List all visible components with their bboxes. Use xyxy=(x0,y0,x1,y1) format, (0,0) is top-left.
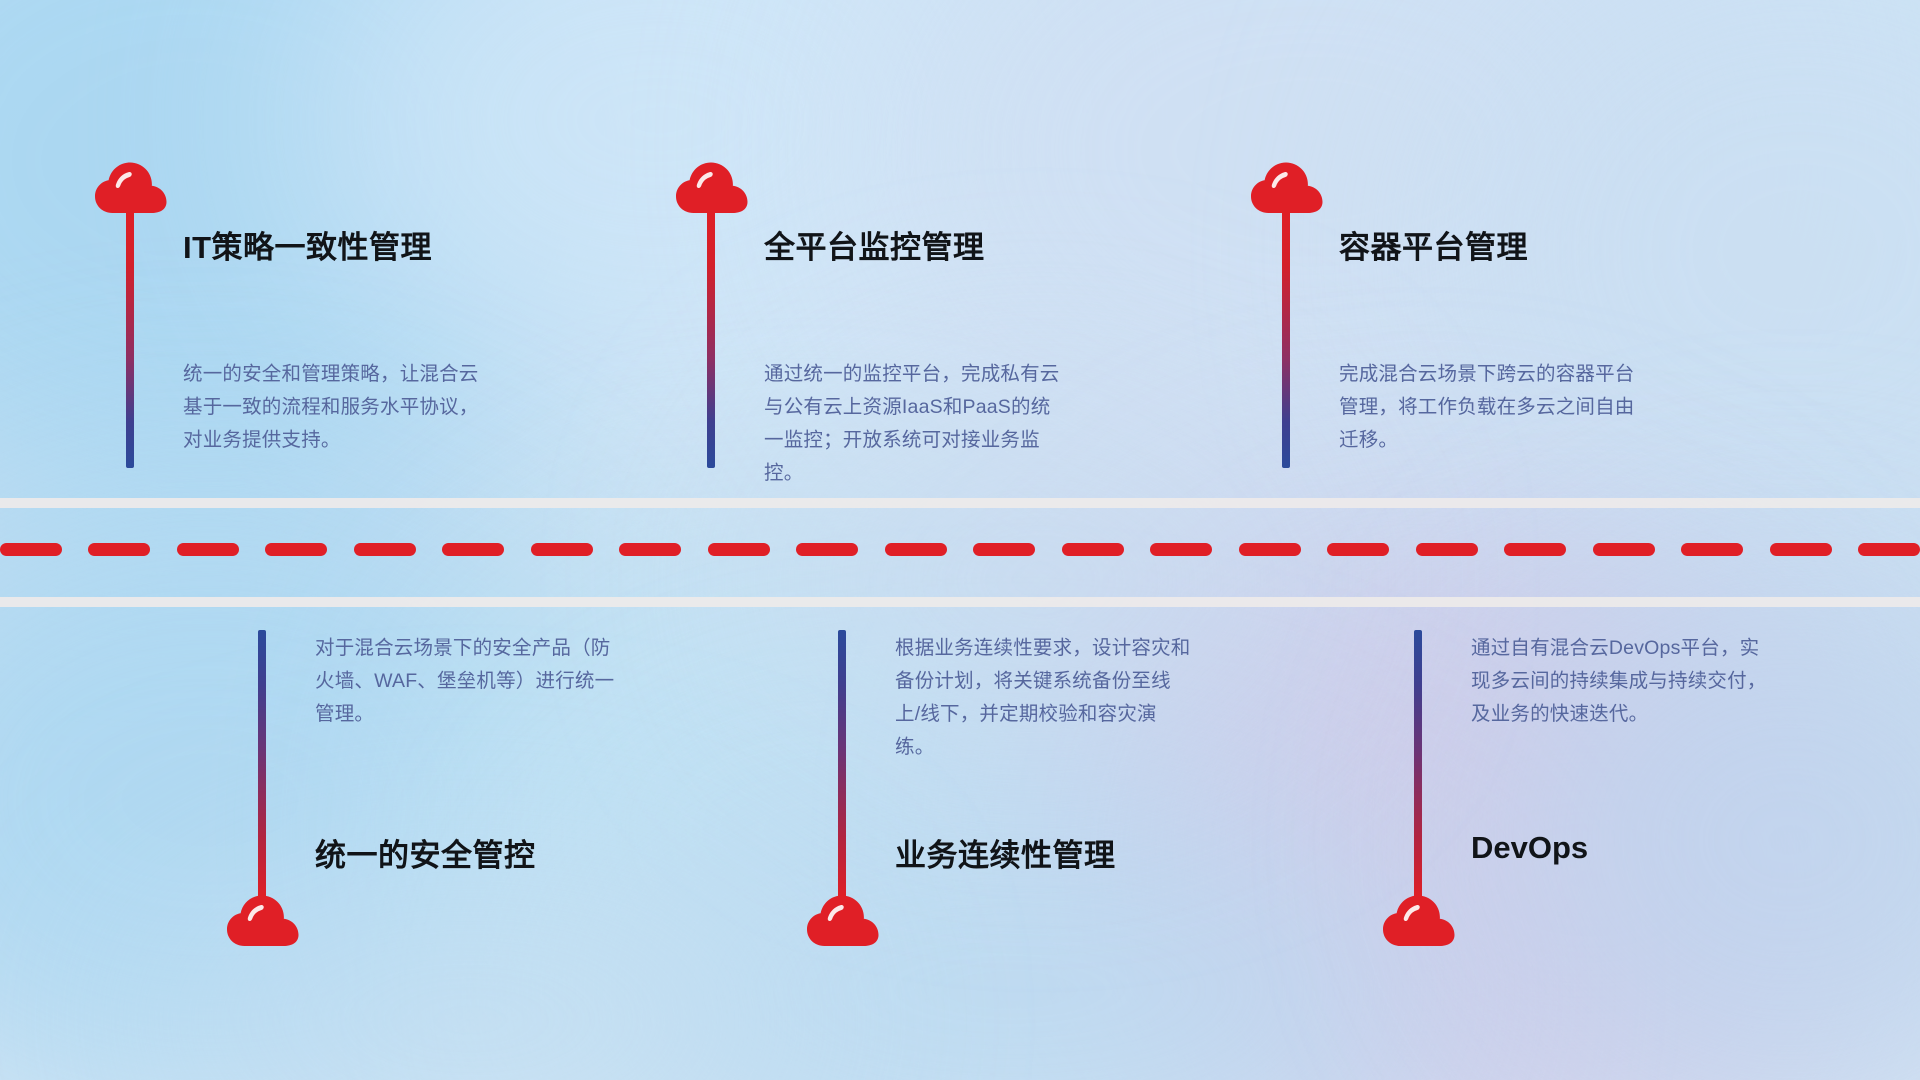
timeline-stem xyxy=(707,208,715,468)
cloud-icon xyxy=(675,160,749,214)
cloud-icon xyxy=(1250,160,1324,214)
road-dash xyxy=(265,543,327,556)
road-dash xyxy=(442,543,504,556)
item-title: 业务连续性管理 xyxy=(895,830,1116,875)
road-dash xyxy=(354,543,416,556)
item-title: 统一的安全管控 xyxy=(315,830,536,875)
item-body: 根据业务连续性要求，设计容灾和备份计划，将关键系统备份至线上/线下，并定期校验和… xyxy=(895,632,1195,764)
road-dash xyxy=(531,543,593,556)
item-title: 容器平台管理 xyxy=(1339,222,1528,267)
road-dash xyxy=(1770,543,1832,556)
item-body: 对于混合云场景下的安全产品（防火墙、WAF、堡垒机等）进行统一管理。 xyxy=(315,632,615,731)
road-center-dashes xyxy=(0,543,1920,556)
item-title: IT策略一致性管理 xyxy=(183,222,432,267)
road-dash xyxy=(1593,543,1655,556)
cloud-icon xyxy=(94,160,168,214)
timeline-stem xyxy=(126,208,134,468)
road-dash xyxy=(1681,543,1743,556)
road-dash xyxy=(0,543,62,556)
cloud-icon xyxy=(1382,893,1456,947)
timeline-stem xyxy=(1414,630,1422,898)
timeline-stem xyxy=(1282,208,1290,468)
road-dash xyxy=(1327,543,1389,556)
item-body: 完成混合云场景下跨云的容器平台管理，将工作负载在多云之间自由迁移。 xyxy=(1339,358,1639,457)
road-edge-top xyxy=(0,498,1920,508)
item-body: 通过统一的监控平台，完成私有云与公有云上资源IaaS和PaaS的统一监控；开放系… xyxy=(764,358,1064,490)
road-dash xyxy=(1504,543,1566,556)
item-title: 全平台监控管理 xyxy=(764,222,985,267)
road-dash xyxy=(1416,543,1478,556)
cloud-icon xyxy=(806,893,880,947)
road-dash xyxy=(796,543,858,556)
infographic-canvas: IT策略一致性管理 统一的安全和管理策略，让混合云基于一致的流程和服务水平协议，… xyxy=(0,0,1920,1080)
road-dash xyxy=(973,543,1035,556)
road-dash xyxy=(177,543,239,556)
timeline-stem xyxy=(838,630,846,898)
item-body: 统一的安全和管理策略，让混合云基于一致的流程和服务水平协议，对业务提供支持。 xyxy=(183,358,483,457)
timeline-stem xyxy=(258,630,266,898)
road-dash xyxy=(1239,543,1301,556)
item-body: 通过自有混合云DevOps平台，实现多云间的持续集成与持续交付，及业务的快速迭代… xyxy=(1471,632,1771,731)
road-edge-bottom xyxy=(0,597,1920,607)
road-dash xyxy=(1062,543,1124,556)
road-dash xyxy=(1150,543,1212,556)
item-title: DevOps xyxy=(1471,830,1588,866)
road-dash xyxy=(1858,543,1920,556)
road-dash xyxy=(88,543,150,556)
road-dash xyxy=(708,543,770,556)
road-dash xyxy=(885,543,947,556)
road-dash xyxy=(619,543,681,556)
cloud-icon xyxy=(226,893,300,947)
